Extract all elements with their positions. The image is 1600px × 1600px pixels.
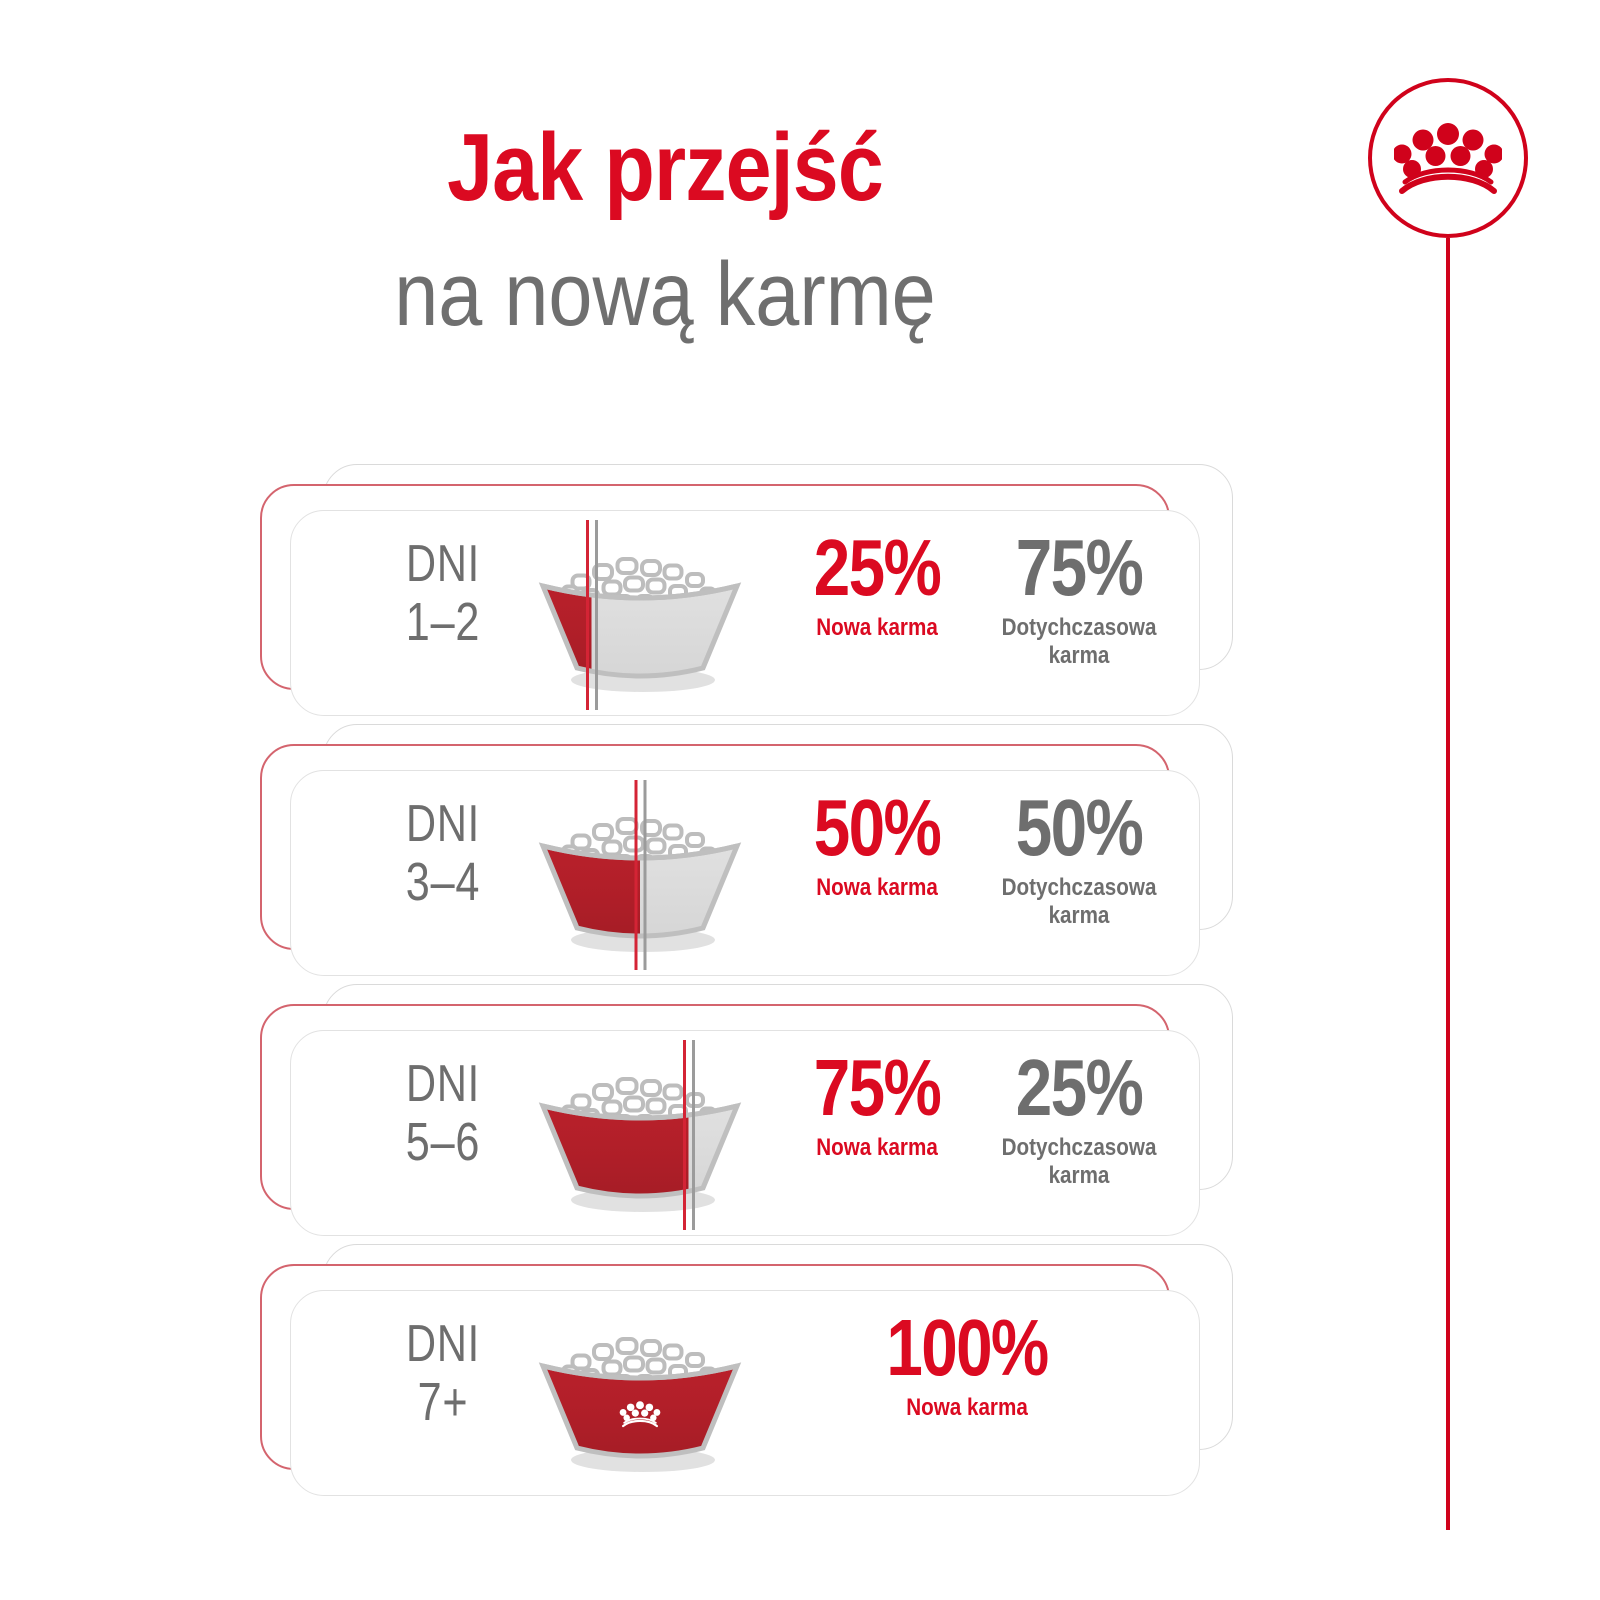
card-content: DNI 3–4	[290, 770, 1200, 976]
card-content: DNI 7+	[290, 1290, 1200, 1496]
days-label: DNI 7+	[368, 1318, 518, 1430]
card-content: DNI 1–2	[290, 510, 1200, 716]
old-food-column: 25% Dotychczasowa karma	[980, 1050, 1178, 1190]
transition-row: DNI 1–2	[248, 452, 1248, 702]
dog-bowl-full-crown-icon	[515, 1296, 765, 1492]
old-food-percent: 25%	[998, 1050, 1160, 1126]
percent-group: 50% Nowa karma 50% Dotychczasowa karma	[780, 790, 1180, 960]
transition-rows: DNI 1–2	[0, 0, 1600, 1600]
days-label: DNI 1–2	[368, 538, 518, 650]
days-word: DNI	[383, 538, 503, 591]
new-food-label: Nowa karma	[795, 874, 958, 902]
old-food-label: Dotychczasowa karma	[994, 614, 1164, 670]
card-content: DNI 5–6	[290, 1030, 1200, 1236]
days-word: DNI	[383, 1318, 503, 1371]
days-value: 1–2	[383, 595, 503, 650]
old-food-column: 75% Dotychczasowa karma	[980, 530, 1178, 670]
days-value: 3–4	[383, 855, 503, 910]
percent-group: 75% Nowa karma 25% Dotychczasowa karma	[780, 1050, 1180, 1220]
dog-bowl-split-icon	[515, 1036, 765, 1232]
transition-row: DNI 7+	[248, 1232, 1248, 1482]
new-food-percent: 100%	[865, 1310, 1070, 1386]
new-food-column: 50% Nowa karma	[782, 790, 972, 902]
new-food-column: 75% Nowa karma	[782, 1050, 972, 1162]
days-value: 5–6	[383, 1115, 503, 1170]
days-word: DNI	[383, 798, 503, 851]
days-label: DNI 3–4	[368, 798, 518, 910]
old-food-percent: 50%	[998, 790, 1160, 866]
percent-group: 25% Nowa karma 75% Dotychczasowa karma	[780, 530, 1180, 700]
old-food-label: Dotychczasowa karma	[994, 874, 1164, 930]
dog-bowl-split-icon	[515, 776, 765, 972]
new-food-column: 25% Nowa karma	[782, 530, 972, 642]
new-food-label: Nowa karma	[795, 614, 958, 642]
days-value: 7+	[383, 1375, 503, 1430]
new-food-label: Nowa karma	[860, 1394, 1075, 1422]
old-food-column: 50% Dotychczasowa karma	[980, 790, 1178, 930]
new-food-percent: 25%	[799, 530, 955, 606]
new-food-percent: 50%	[799, 790, 955, 866]
infographic-canvas: Jak przejść na nową karmę	[0, 0, 1600, 1600]
transition-row: DNI 5–6	[248, 972, 1248, 1222]
new-food-percent: 75%	[799, 1050, 955, 1126]
old-food-label: Dotychczasowa karma	[994, 1134, 1164, 1190]
new-food-column: 100% Nowa karma	[842, 1310, 1092, 1422]
new-food-label: Nowa karma	[795, 1134, 958, 1162]
transition-row: DNI 3–4	[248, 712, 1248, 962]
days-word: DNI	[383, 1058, 503, 1111]
percent-group: 100% Nowa karma	[780, 1310, 1180, 1480]
dog-bowl-split-icon	[515, 516, 765, 712]
old-food-percent: 75%	[998, 530, 1160, 606]
days-label: DNI 5–6	[368, 1058, 518, 1170]
